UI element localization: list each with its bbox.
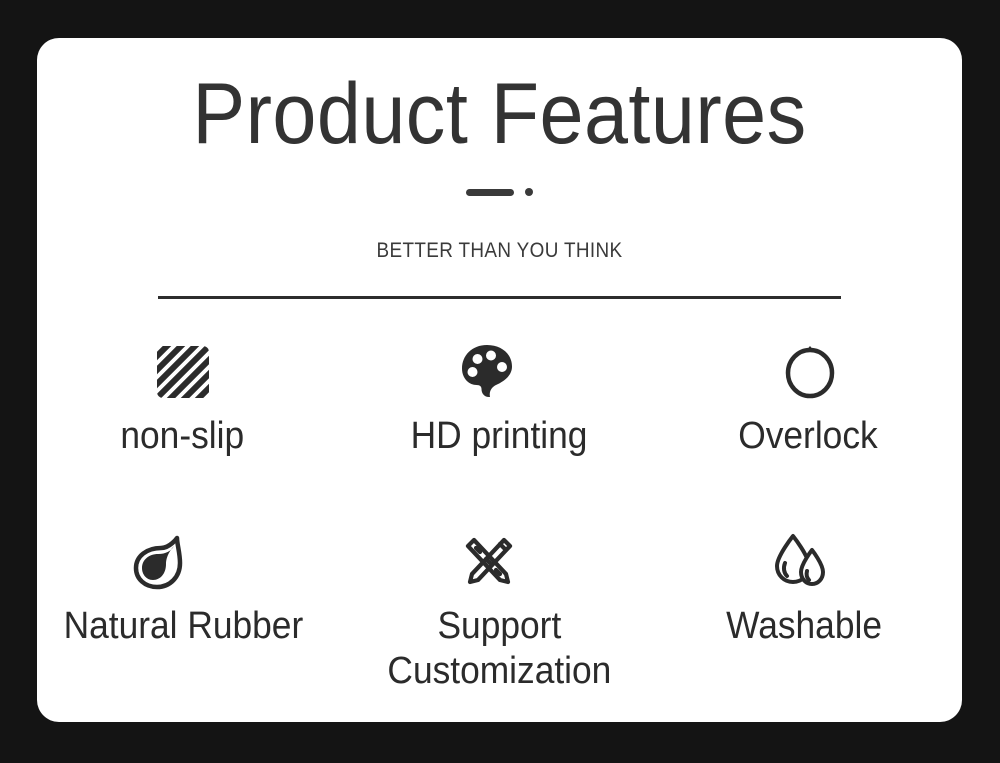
pencil-ruler-icon bbox=[460, 528, 518, 590]
divider-dot-icon bbox=[525, 188, 533, 196]
page-subtitle: BETTER THAN YOU THINK bbox=[83, 238, 916, 264]
leaf-drop-icon bbox=[130, 528, 188, 590]
feature-item-support-customization: Support Customization bbox=[345, 528, 653, 698]
horizontal-rule bbox=[158, 296, 841, 299]
feature-item-hd-printing: HD printing bbox=[345, 338, 653, 528]
feature-label: Washable bbox=[726, 604, 882, 649]
poster-stage: Product Features BETTER THAN YOU THINK bbox=[0, 0, 1000, 763]
feature-label: Natural Rubber bbox=[64, 604, 304, 649]
feature-item-non-slip: non-slip bbox=[37, 338, 345, 528]
feature-item-washable: Washable bbox=[654, 528, 962, 698]
feature-card: Product Features BETTER THAN YOU THINK bbox=[37, 38, 962, 722]
feature-label: Overlock bbox=[738, 414, 877, 459]
divider-dash-icon bbox=[466, 189, 514, 196]
feature-item-overlock: Overlock bbox=[654, 338, 962, 528]
feature-label: HD printing bbox=[411, 414, 588, 459]
feature-label: non-slip bbox=[120, 414, 244, 459]
dash-dot-divider bbox=[37, 188, 962, 196]
feature-grid: non-slip HD printing bbox=[37, 338, 962, 698]
page-title: Product Features bbox=[74, 66, 925, 162]
water-drops-icon bbox=[771, 528, 829, 590]
diagonal-stripes-icon bbox=[155, 338, 211, 400]
feature-label: Support Customization bbox=[388, 604, 612, 694]
stitch-ring-icon bbox=[783, 338, 837, 400]
paint-palette-icon bbox=[459, 338, 515, 400]
feature-item-natural-rubber: Natural Rubber bbox=[37, 528, 345, 698]
